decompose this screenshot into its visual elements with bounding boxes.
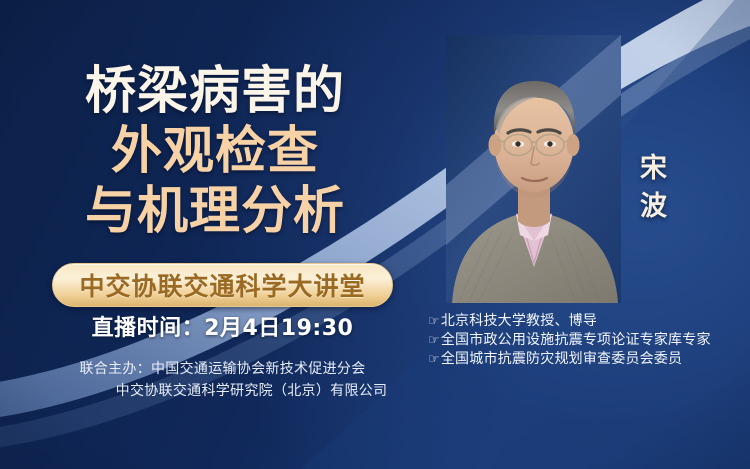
organizer-line-2: 中交协联交通科学研究院（北京）有限公司 bbox=[0, 380, 445, 402]
title-line-2: 外观检查 bbox=[0, 122, 430, 182]
title-line-1: 桥梁病害的 bbox=[0, 62, 430, 122]
speaker-name-char-2: 波 bbox=[631, 188, 677, 226]
left-content-column: 桥梁病害的 外观检查 与机理分析 中交协联交通科学大讲堂 直播时间：2月4日19… bbox=[0, 0, 445, 469]
credential-text: 全国城市抗震防灾规划审查委员会委员 bbox=[441, 350, 682, 369]
pointing-hand-icon: ☞ bbox=[428, 350, 440, 369]
pointing-hand-icon: ☞ bbox=[428, 312, 440, 331]
title-line-3: 与机理分析 bbox=[0, 182, 430, 242]
webinar-poster: 桥梁病害的 外观检查 与机理分析 中交协联交通科学大讲堂 直播时间：2月4日19… bbox=[0, 0, 750, 469]
credential-item: ☞ 全国市政公用设施抗震专项论证专家库专家 bbox=[428, 331, 746, 350]
organizer-line-1: 联合主办：中国交通运输协会新技术促进分会 bbox=[0, 358, 445, 380]
speaker-name-char-1: 宋 bbox=[631, 150, 677, 188]
speaker-photo bbox=[446, 35, 621, 303]
organizer-block: 联合主办：中国交通运输协会新技术促进分会 中交协联交通科学研究院（北京）有限公司 bbox=[0, 358, 445, 402]
credential-text: 全国市政公用设施抗震专项论证专家库专家 bbox=[441, 331, 711, 350]
credential-text: 北京科技大学教授、博导 bbox=[441, 312, 597, 331]
speaker-credentials: ☞ 北京科技大学教授、博导 ☞ 全国市政公用设施抗震专项论证专家库专家 ☞ 全国… bbox=[428, 312, 746, 369]
credential-item: ☞ 北京科技大学教授、博导 bbox=[428, 312, 746, 331]
series-badge: 中交协联交通科学大讲堂 bbox=[52, 263, 392, 307]
credential-item: ☞ 全国城市抗震防灾规划审查委员会委员 bbox=[428, 350, 746, 369]
series-badge-wrapper: 中交协联交通科学大讲堂 bbox=[0, 263, 445, 307]
speaker-portrait-image bbox=[446, 35, 621, 303]
series-badge-label: 中交协联交通科学大讲堂 bbox=[79, 267, 365, 303]
poster-title: 桥梁病害的 外观检查 与机理分析 bbox=[0, 62, 430, 242]
speaker-name: 宋 波 bbox=[631, 150, 677, 226]
pointing-hand-icon: ☞ bbox=[428, 331, 440, 350]
broadcast-time: 直播时间：2月4日19:30 bbox=[0, 310, 445, 342]
